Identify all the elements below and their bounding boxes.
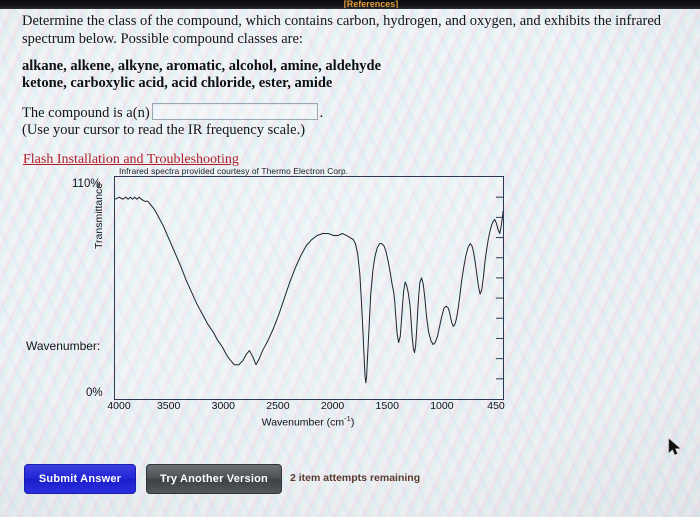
submit-answer-button[interactable]: Submit Answer (24, 464, 136, 494)
chart-title: Infrared spectra provided courtesy of Th… (119, 166, 479, 176)
cursor-hint-text: (Use your cursor to read the IR frequenc… (22, 122, 305, 139)
mouse-cursor (668, 438, 682, 456)
attempts-remaining-text: 2 item attempts remaining (290, 464, 420, 492)
spectrum-plot-area[interactable] (114, 176, 504, 400)
y-axis-title: Transmittance (93, 233, 105, 249)
compound-classes-line-1: alkane, alkene, alkyne, aromatic, alcoho… (22, 58, 542, 75)
references-tab[interactable]: [References] (332, 0, 410, 8)
compound-classes-line-2: ketone, carboxylic acid, acid chloride, … (22, 75, 542, 92)
wavenumber-readout: Wavenumber: (26, 339, 100, 353)
wavenumber-readout-label: Wavenumber: (26, 339, 100, 353)
x-tick-4000: 4000 (107, 400, 130, 412)
x-tick-1000: 1000 (430, 400, 453, 412)
answer-row: The compound is a(n). (22, 103, 442, 123)
answer-suffix-period: . (320, 105, 324, 121)
compound-classes-list: alkane, alkene, alkyne, aromatic, alcoho… (22, 58, 542, 92)
x-axis-title: Wavenumber (cm-1) (114, 414, 502, 429)
x-tick-2500: 2500 (266, 400, 289, 412)
spectrum-svg (115, 177, 503, 399)
try-another-version-button[interactable]: Try Another Version (146, 464, 282, 494)
question-prompt: Determine the class of the compound, whi… (22, 12, 677, 48)
x-tick-1500: 1500 (376, 400, 399, 412)
x-tick-3500: 3500 (157, 400, 180, 412)
x-tick-450: 450 (487, 400, 505, 412)
x-axis-tick-labels: 4000350030002500200015001000450 (114, 400, 502, 414)
y-axis-min-label: 0% (86, 387, 103, 399)
answer-input[interactable] (152, 103, 318, 120)
action-button-bar: Submit Answer Try Another Version 2 item… (0, 462, 700, 498)
x-tick-2000: 2000 (321, 400, 344, 412)
ir-spectrum-chart: Infrared spectra provided courtesy of Th… (0, 165, 540, 430)
answer-prefix-label: The compound is a(n) (22, 105, 150, 121)
x-tick-3000: 3000 (212, 400, 235, 412)
spectrum-trace (115, 197, 503, 383)
